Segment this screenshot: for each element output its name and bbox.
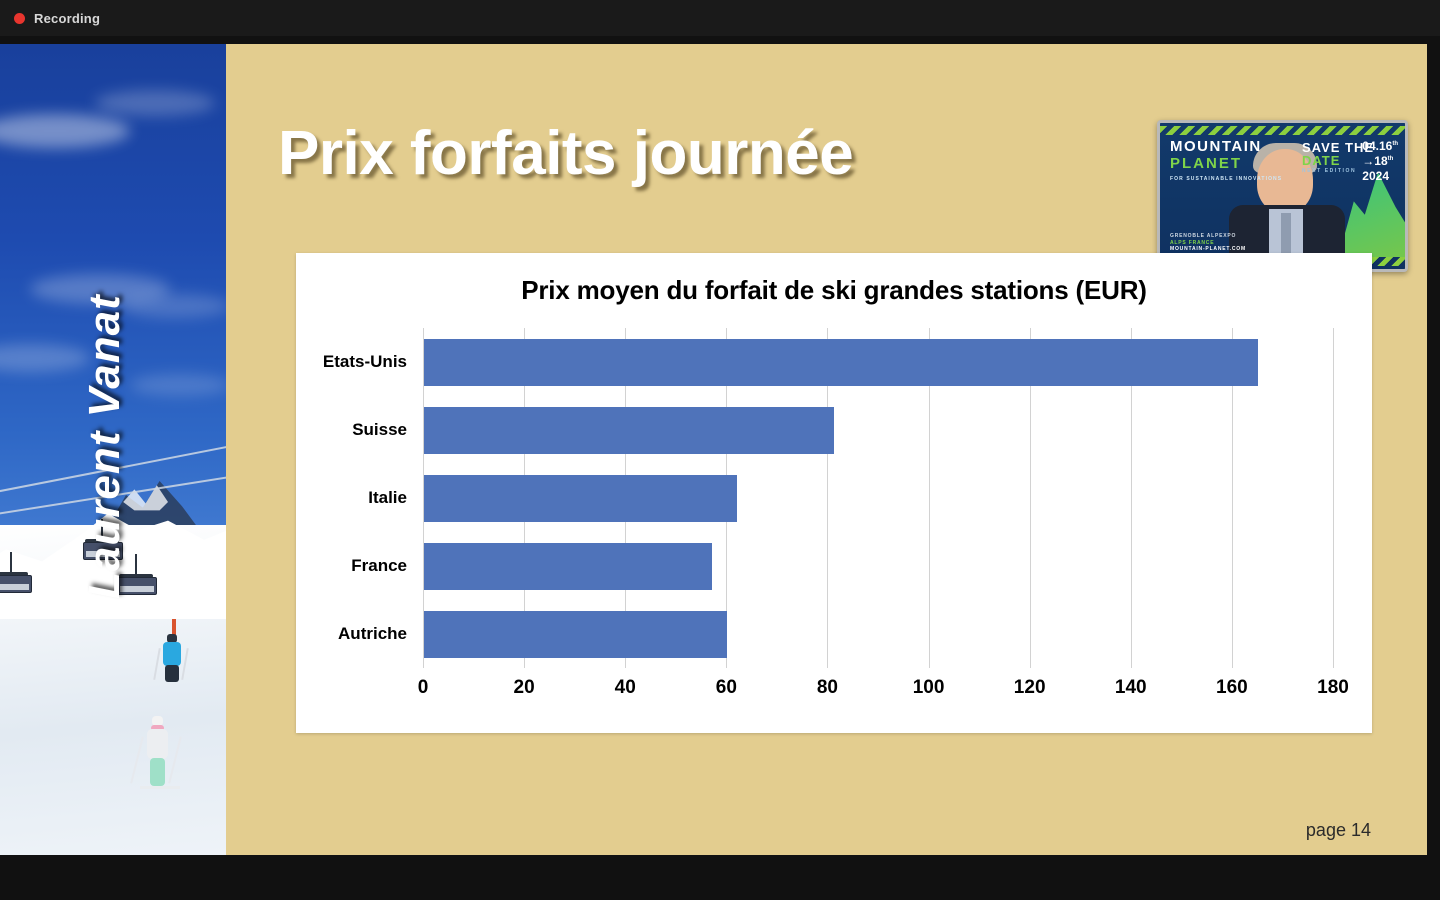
mountain-planet-logo: MOUNTAIN PLANET FOR SUSTAINABLE INNOVATI… <box>1170 139 1282 182</box>
category-label: Suisse <box>352 420 407 440</box>
category-label: France <box>351 556 407 576</box>
cloud <box>95 90 215 116</box>
x-tick-label: 40 <box>615 677 636 699</box>
chart-bar <box>424 475 737 522</box>
video-thumbnail[interactable]: MOUNTAIN PLANET FOR SUSTAINABLE INNOVATI… <box>1157 120 1408 272</box>
recording-bar: Recording <box>0 0 1440 36</box>
x-tick-label: 80 <box>817 677 838 699</box>
logo-line-planet: PLANET <box>1170 154 1282 174</box>
x-tick-label: 20 <box>514 677 535 699</box>
ski-photo-sidebar: Laurent Vanat <box>0 44 226 855</box>
zigzag-border-top <box>1160 126 1405 135</box>
chart-panel: Prix moyen du forfait de ski grandes sta… <box>296 253 1372 733</box>
date-end-suffix: th <box>1388 156 1394 162</box>
video-footer: GRENOBLE ALPEXPO ALPS FRANCE MOUNTAIN-PL… <box>1170 233 1246 253</box>
recording-dot-icon <box>14 13 25 24</box>
category-label: Italie <box>368 488 407 508</box>
x-tick-label: 60 <box>716 677 737 699</box>
chart-plot-area: Etats-UnisSuisseItalieFranceAutriche <box>423 328 1333 668</box>
cloud <box>130 374 226 396</box>
logo-tagline: FOR SUSTAINABLE INNOVATIONS <box>1170 176 1282 182</box>
chart-bar <box>424 407 834 454</box>
screen: Recording <box>0 0 1440 900</box>
date-year: 2024 <box>1362 169 1398 184</box>
event-dates: 04.16th →18th 2024 <box>1362 139 1398 184</box>
cloud <box>120 294 226 318</box>
x-tick-label: 160 <box>1216 677 1248 699</box>
chart-bar <box>424 611 727 658</box>
footer-website: MOUNTAIN-PLANET.COM <box>1170 246 1246 253</box>
chart-bar <box>424 543 712 590</box>
page-number: page 14 <box>1306 820 1371 841</box>
x-tick-label: 100 <box>913 677 945 699</box>
x-tick-label: 140 <box>1115 677 1147 699</box>
chart-title: Prix moyen du forfait de ski grandes sta… <box>296 275 1372 306</box>
footer-venue: GRENOBLE ALPEXPO <box>1170 233 1246 240</box>
x-tick-label: 180 <box>1317 677 1349 699</box>
x-tick-label: 0 <box>418 677 429 699</box>
x-axis-tick-labels: 020406080100120140160180 <box>423 677 1333 707</box>
chart-gridline <box>1333 328 1334 668</box>
logo-line-mountain: MOUNTAIN <box>1170 139 1282 154</box>
date-end: 18 <box>1374 154 1387 168</box>
page-title: Prix forfaits journée <box>278 118 853 189</box>
chart-bar <box>424 339 1258 386</box>
category-label: Etats-Unis <box>323 352 407 372</box>
category-label: Autriche <box>338 624 407 644</box>
date-start: 04.16 <box>1362 139 1392 153</box>
presentation-slide: Laurent Vanat Prix forfaits journée MOUN… <box>0 44 1427 855</box>
recording-label: Recording <box>34 11 100 26</box>
date-start-suffix: th <box>1392 141 1398 147</box>
x-tick-label: 120 <box>1014 677 1046 699</box>
author-watermark: Laurent Vanat <box>80 239 130 599</box>
footer-region: ALPS FRANCE <box>1170 240 1246 247</box>
